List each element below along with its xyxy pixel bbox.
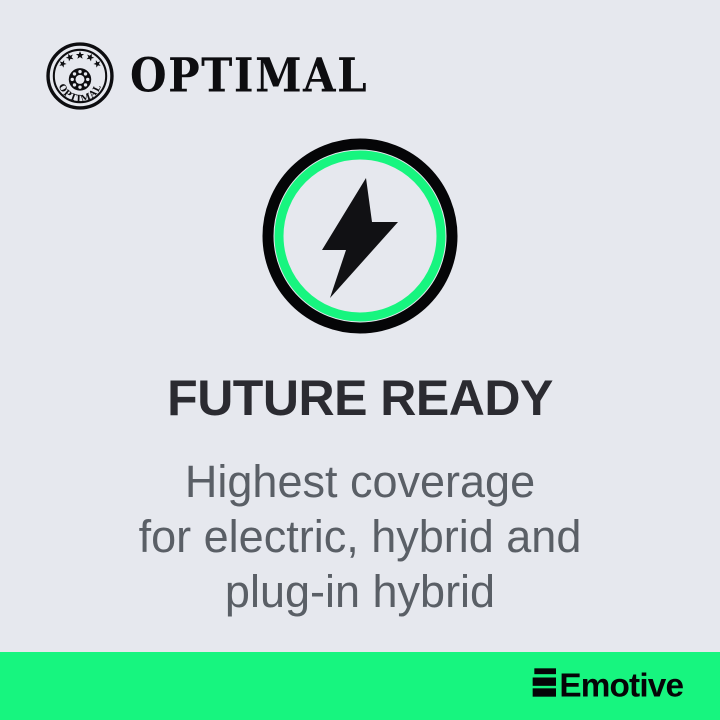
subtitle-line: plug-in hybrid (0, 565, 720, 620)
emotive-logo: Emotive (531, 661, 698, 709)
emotive-e-mark-icon (533, 668, 556, 696)
subtitle-line: Highest coverage (0, 455, 720, 510)
lightning-bolt-icon (322, 178, 398, 298)
optimal-wheel-emblem-icon: OPTIMAL (46, 42, 114, 110)
lightning-badge (262, 138, 458, 334)
subtitle-block: Highest coverage for electric, hybrid an… (0, 455, 720, 620)
emotive-wordmark: Emotive (560, 668, 684, 705)
brand-wordmark: OPTIMAL (130, 52, 368, 99)
brand-lockup: OPTIMAL OPTIMAL (46, 42, 368, 110)
page-title: FUTURE READY (0, 372, 720, 425)
subtitle-line: for electric, hybrid and (0, 510, 720, 565)
poster-canvas: OPTIMAL OPTIMAL FUTURE READY Highest cov… (0, 0, 720, 720)
